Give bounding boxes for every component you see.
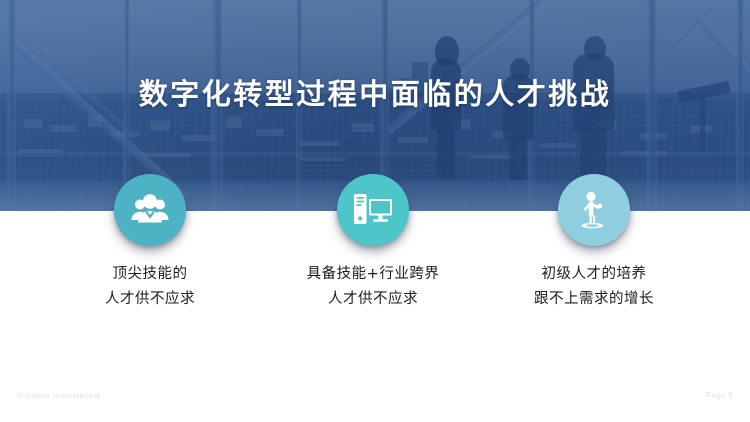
caption-1-line-2: 人才供不应求 (30, 287, 270, 312)
person-raising-hand-icon (576, 190, 612, 230)
desktop-computer-icon (353, 192, 393, 228)
caption-1: 顶尖技能的 人才供不应求 (30, 262, 270, 312)
icon-circle-2[interactable] (337, 174, 409, 246)
caption-2: 具备技能+行业跨界 人才供不应求 (253, 262, 493, 312)
caption-1-line-1: 顶尖技能的 (30, 262, 270, 287)
caption-3: 初级人才的培养 跟不上需求的增长 (474, 262, 714, 312)
caption-2-line-2: 人才供不应求 (253, 287, 493, 312)
footer-page-number: Page 8 (706, 391, 733, 400)
icon-circle-1[interactable] (114, 174, 186, 246)
icon-circle-3[interactable] (558, 174, 630, 246)
caption-3-line-1: 初级人才的培养 (474, 262, 714, 287)
presentation-slide: 数字化转型过程中面临的人才挑战 (0, 0, 750, 422)
caption-3-line-2: 跟不上需求的增长 (474, 287, 714, 312)
group-of-people-icon (130, 193, 170, 227)
caption-2-line-1: 具备技能+行业跨界 (253, 262, 493, 287)
slide-title: 数字化转型过程中面临的人才挑战 (0, 76, 750, 114)
footer-copyright: © Career International (17, 391, 100, 400)
